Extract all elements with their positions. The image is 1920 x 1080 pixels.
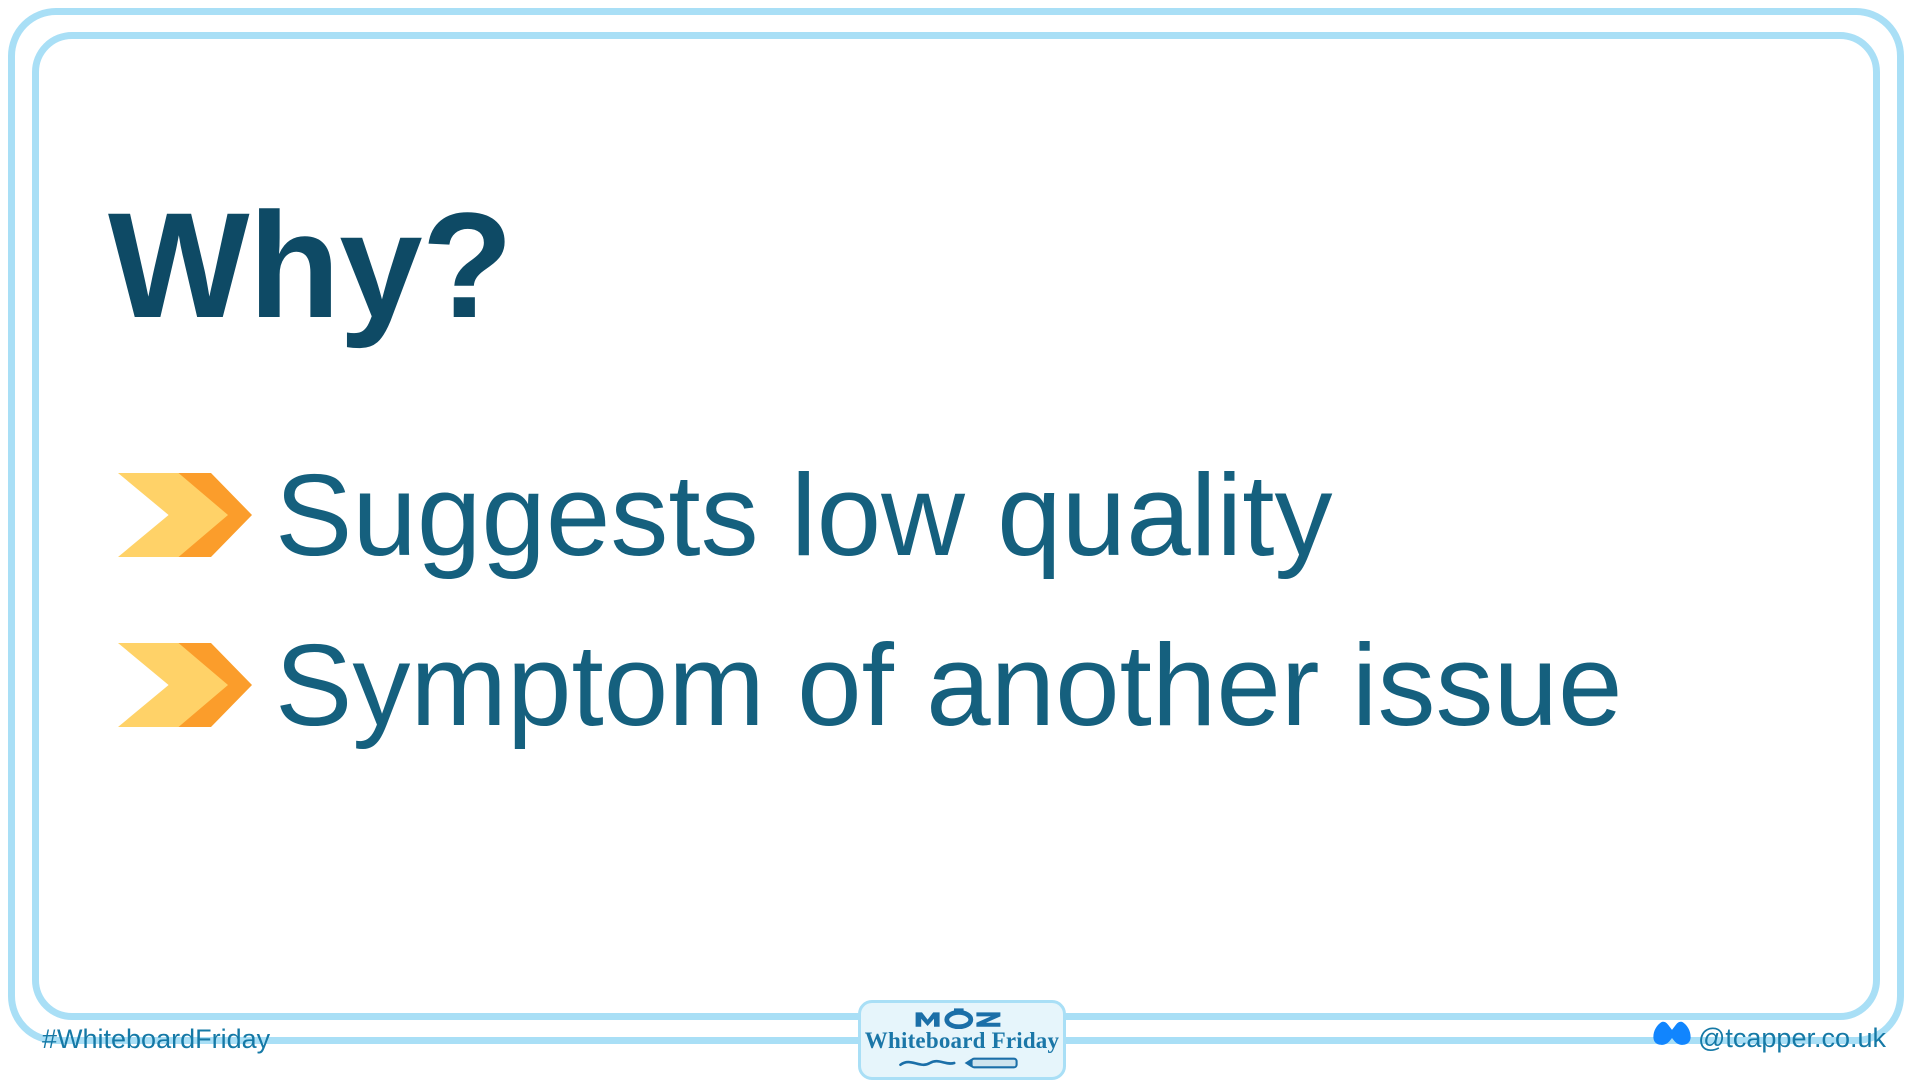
double-chevron-icon (118, 643, 253, 727)
bullet-list: Suggests low quality Symptom of another … (118, 430, 1878, 770)
page-title: Why? (108, 190, 512, 340)
double-chevron-icon (118, 473, 253, 557)
slide-content: Why? Suggests low quality Symptom of ano… (0, 0, 1920, 1000)
list-item-label: Symptom of another issue (275, 627, 1623, 743)
marker-pen-icon (861, 1054, 1063, 1072)
bluesky-butterfly-icon (1652, 1020, 1692, 1056)
list-item-label: Suggests low quality (275, 457, 1332, 573)
hashtag-label: #WhiteboardFriday (42, 1024, 270, 1055)
badge-subtitle: Whiteboard Friday (861, 1029, 1063, 1053)
list-item: Symptom of another issue (118, 600, 1878, 770)
moz-whiteboard-friday-badge: Whiteboard Friday (858, 1000, 1066, 1080)
social-handle-label: @tcapper.co.uk (1698, 1023, 1886, 1054)
moz-logo-icon (861, 1006, 1063, 1030)
list-item: Suggests low quality (118, 430, 1878, 600)
social-handle-group[interactable]: @tcapper.co.uk (1652, 1020, 1886, 1056)
